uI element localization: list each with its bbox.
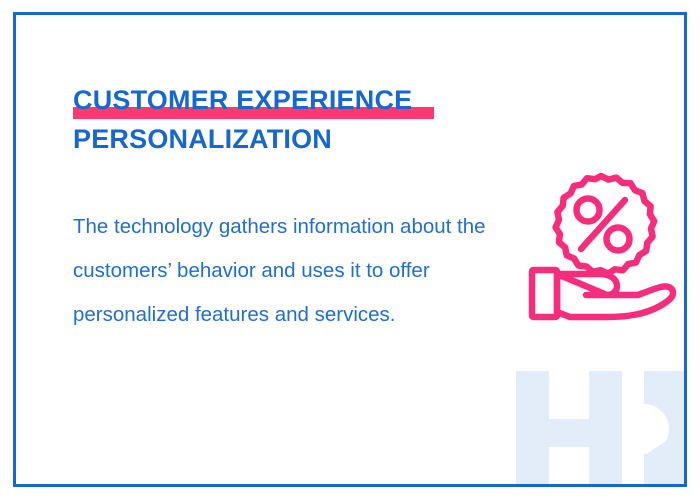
hand-holding-percent-badge-icon (524, 170, 679, 322)
title-block: CUSTOMER EXPERIENCE PERSONALIZATION (73, 81, 493, 159)
body-paragraph: The technology gathers information about… (73, 205, 493, 337)
title-line-1-text: CUSTOMER EXPERIENCE (73, 85, 412, 115)
title-line-1: CUSTOMER EXPERIENCE (73, 81, 493, 120)
card-border-frame: CUSTOMER EXPERIENCE PERSONALIZATION The … (13, 12, 687, 487)
hq-watermark (501, 357, 687, 487)
title-line-2-text: PERSONALIZATION (73, 124, 332, 154)
slide-card: CUSTOMER EXPERIENCE PERSONALIZATION The … (0, 0, 700, 500)
title-line-2: PERSONALIZATION (73, 120, 493, 159)
